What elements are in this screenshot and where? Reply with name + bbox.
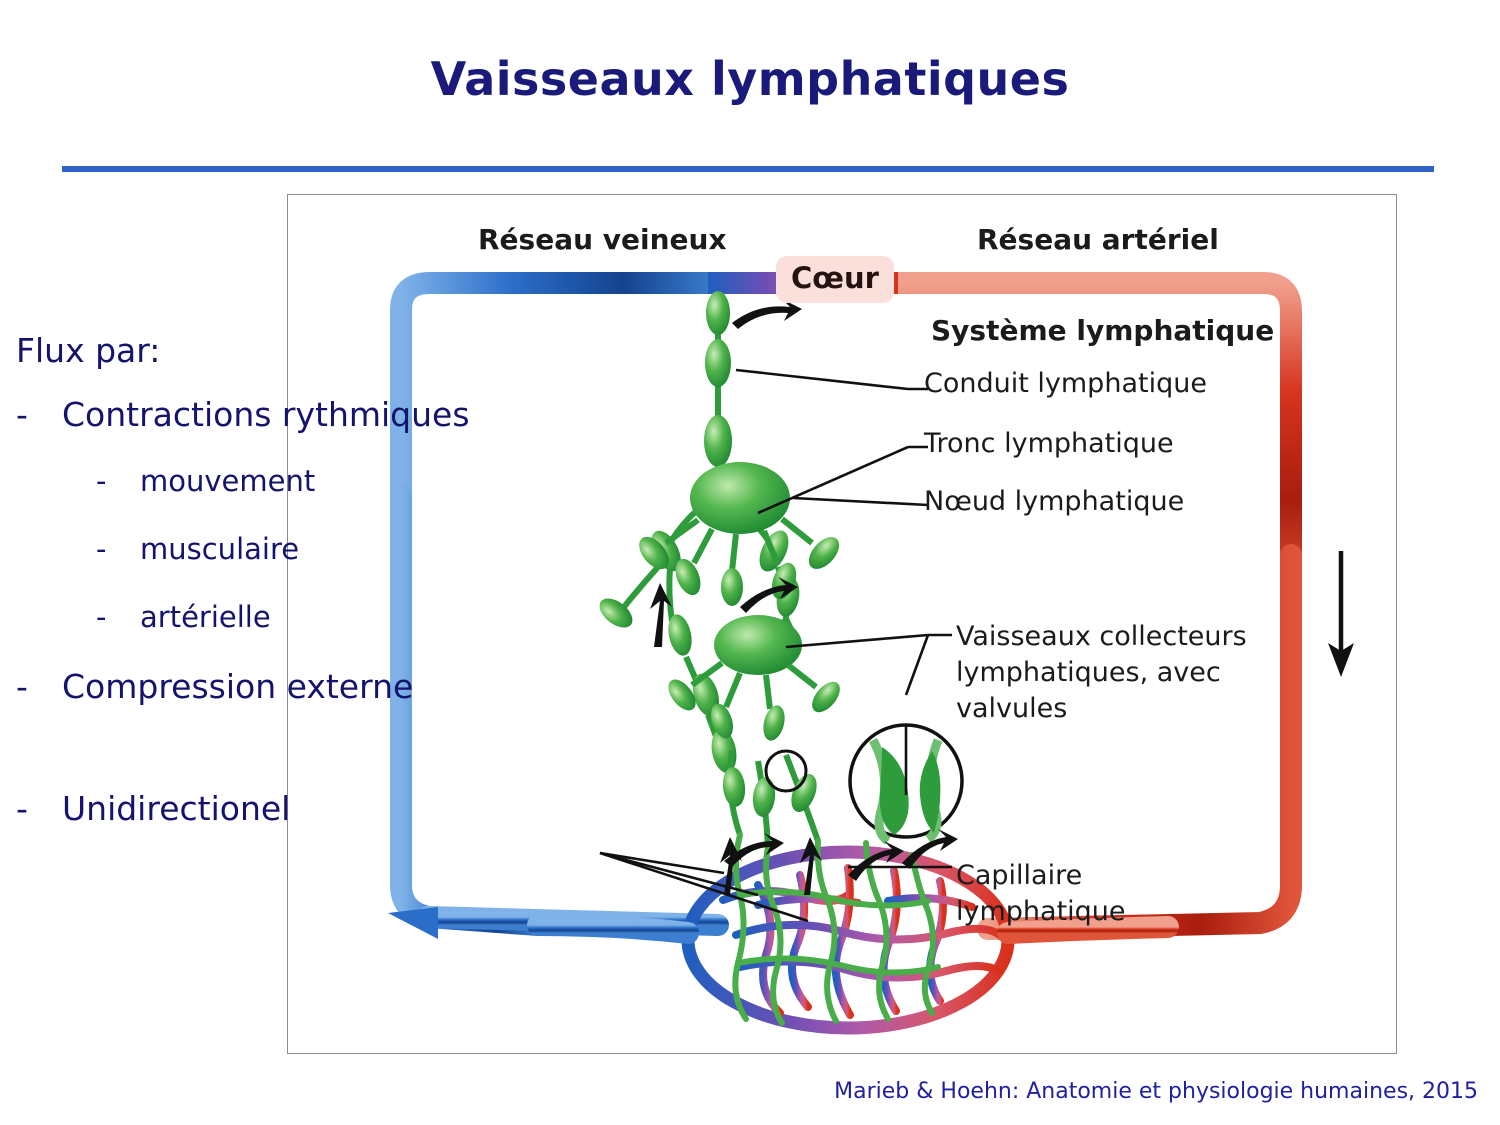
lymph-bead [704, 415, 732, 467]
bullet-spacer [16, 734, 536, 788]
source-citation: Marieb & Hoehn: Anatomie et physiologie … [0, 1079, 1478, 1104]
lymph-bead [721, 568, 743, 606]
valve-detail-magnified [850, 725, 962, 841]
label-arterial-network: Réseau artériel [977, 223, 1219, 256]
label-heart: Cœur [776, 256, 894, 303]
bullet-dash: - [96, 598, 140, 636]
bullet-label: artérielle [140, 598, 271, 636]
bullet-dash: - [16, 788, 62, 830]
label-lymphatic-duct: Conduit lymphatique [924, 368, 1207, 399]
lymph-bead [751, 776, 777, 818]
bullet-subitem-mouvement: - mouvement [16, 462, 536, 500]
venous-taper-tip [388, 907, 438, 939]
bullet-dash: - [96, 462, 140, 500]
title-underline-rule [62, 166, 1434, 172]
lymph-bead [760, 703, 788, 743]
label-lymphatic-trunk: Tronc lymphatique [924, 428, 1174, 459]
label-lymphatic-system-title: Système lymphatique [931, 314, 1274, 347]
label-collecting-vessels: Vaisseaux collecteurs lymphatiques, avec… [956, 619, 1296, 727]
bullet-label: Contractions rythmiques [62, 394, 470, 436]
bullet-list: Flux par: - Contractions rythmiques - mo… [16, 330, 536, 856]
bullet-label: mouvement [140, 462, 315, 500]
bullet-item-contractions: - Contractions rythmiques [16, 394, 536, 436]
label-venous-network: Réseau veineux [478, 223, 727, 256]
bullet-item-compression: - Compression externe [16, 666, 536, 708]
bullet-label: musculaire [140, 530, 299, 568]
label-lymph-node: Nœud lymphatique [924, 486, 1184, 517]
lymph-bead [705, 339, 731, 387]
bullet-label: Compression externe [62, 666, 413, 708]
bullet-subitem-musculaire: - musculaire [16, 530, 536, 568]
bullet-dash: - [16, 666, 62, 708]
page-title: Vaisseaux lymphatiques [0, 52, 1500, 106]
bullet-heading: Flux par: [16, 330, 536, 372]
bullet-item-unidirectionel: - Unidirectionel [16, 788, 536, 830]
slide-root: Vaisseaux lymphatiques Flux par: - Contr… [0, 0, 1500, 1125]
label-lymphatic-capillary: Capillaire lymphatique [956, 858, 1256, 930]
bullet-subitem-arterielle: - artérielle [16, 598, 536, 636]
venous-trunk-into-bed [538, 925, 688, 933]
bullet-dash: - [16, 394, 62, 436]
bullet-label: Unidirectionel [62, 788, 290, 830]
lymph-bead [706, 291, 730, 335]
flow-direction-arrow [1328, 551, 1354, 677]
bullet-dash: - [96, 530, 140, 568]
